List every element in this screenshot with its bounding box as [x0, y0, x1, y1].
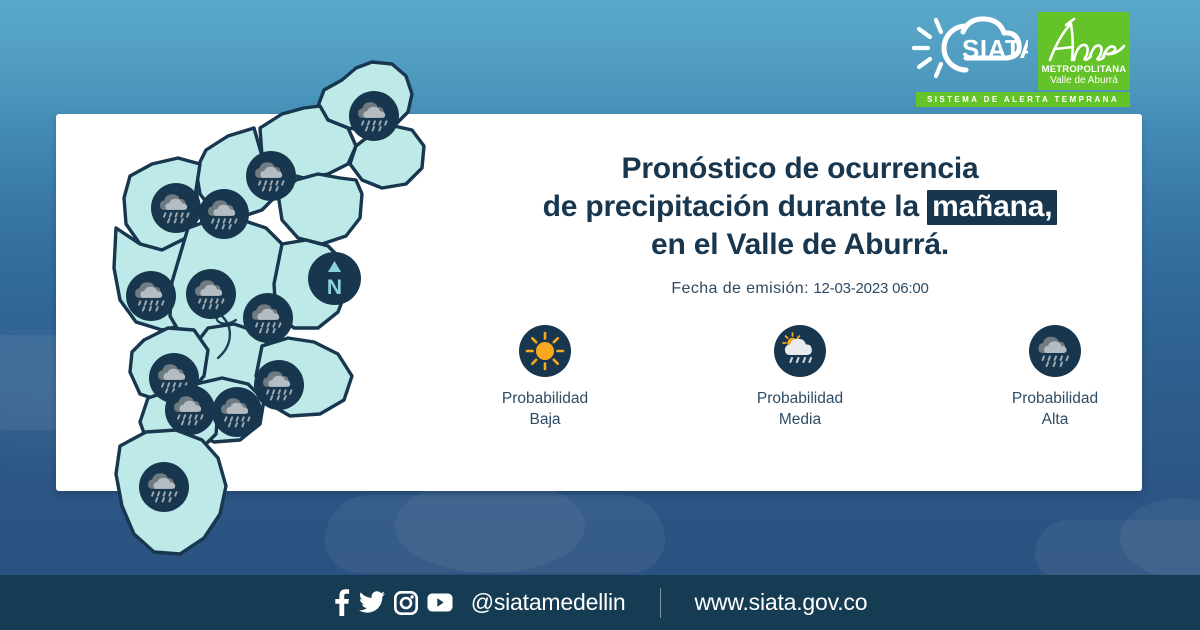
title-line-2: de precipitación durante la mañana,	[470, 188, 1130, 226]
facebook-icon[interactable]	[333, 589, 350, 616]
map-marker-copacabana[interactable]	[199, 189, 249, 239]
map-marker-caldas[interactable]	[139, 462, 189, 512]
sun-icon	[519, 325, 571, 377]
youtube-icon[interactable]	[427, 593, 453, 612]
legend-label-baja: Probabilidad Baja	[502, 389, 588, 430]
legend-item-alta: Probabilidad Alta	[980, 325, 1130, 430]
siata-tagline: SISTEMA DE ALERTA TEMPRANA	[927, 95, 1119, 104]
legend-label-media-line2: Media	[757, 410, 843, 430]
emission-date: Fecha de emisión: 12-03-2023 06:00	[470, 280, 1130, 298]
siata-wordmark: SIATA	[962, 34, 1028, 64]
legend-label-alta: Probabilidad Alta	[1012, 389, 1098, 430]
social-handle[interactable]: @siatamedellin	[471, 589, 626, 616]
compass-rose: N	[308, 252, 361, 305]
map-marker-don-matias[interactable]	[151, 183, 201, 233]
siata-tagline-bar: SISTEMA DE ALERTA TEMPRANA	[916, 92, 1130, 107]
map-marker-bello[interactable]	[126, 271, 176, 321]
title-line-2-text: de precipitación durante la	[543, 190, 928, 223]
area-metropolitana-logo: METROPOLITANA Valle de Aburrá	[1038, 12, 1130, 90]
legend-label-baja-line2: Baja	[502, 410, 588, 430]
infographic-poster: SIATA METROPOLITANA Valle de Aburrá SIST…	[0, 0, 1200, 630]
title-line-1: Pronóstico de ocurrencia	[470, 150, 1130, 188]
website-link[interactable]: www.siata.gov.co	[695, 589, 868, 616]
area-sub-metropolitana: METROPOLITANA	[1042, 65, 1127, 75]
page-title: Pronóstico de ocurrencia de precipitació…	[470, 150, 1130, 263]
footer-bar: @siatamedellin www.siata.gov.co	[0, 575, 1200, 630]
footer-divider	[660, 588, 661, 618]
map-marker-girardota[interactable]	[246, 151, 296, 201]
instagram-icon[interactable]	[394, 591, 418, 615]
map-marker-barbosa[interactable]	[349, 91, 399, 141]
legend-label-media: Probabilidad Media	[757, 389, 843, 430]
social-icons	[333, 589, 453, 616]
brand-logos: SIATA METROPOLITANA Valle de Aburrá	[906, 12, 1130, 90]
sun-cloud-rain-icon	[774, 325, 826, 377]
legend-item-media: Probabilidad Media	[725, 325, 875, 430]
legend-label-baja-line1: Probabilidad	[502, 389, 588, 409]
forecast-content: Pronóstico de ocurrencia de precipitació…	[470, 150, 1130, 430]
map-marker-medellin-norte[interactable]	[186, 269, 236, 319]
compass-north-label: N	[327, 276, 342, 299]
probability-legend: Probabilidad Baja	[470, 325, 1130, 430]
siata-logo: SIATA	[906, 12, 1028, 84]
area-sub-valle: Valle de Aburrá	[1050, 75, 1118, 87]
legend-label-media-line1: Probabilidad	[757, 389, 843, 409]
map-marker-sabaneta[interactable]	[254, 360, 304, 410]
cloud-rain-icon	[1029, 325, 1081, 377]
title-highlight-manana: mañana,	[927, 190, 1057, 226]
siata-logo-mark: SIATA	[906, 12, 1028, 84]
title-line-3: en el Valle de Aburrá.	[470, 226, 1130, 264]
legend-item-baja: Probabilidad Baja	[470, 325, 620, 430]
twitter-icon[interactable]	[359, 591, 385, 614]
emission-value: 12-03-2023 06:00	[813, 280, 928, 297]
map-marker-itagui[interactable]	[165, 385, 215, 435]
emission-label: Fecha de emisión:	[671, 280, 809, 297]
map-marker-medellin-centro[interactable]	[243, 293, 293, 343]
legend-label-alta-line2: Alta	[1012, 410, 1098, 430]
legend-label-alta-line1: Probabilidad	[1012, 389, 1098, 409]
area-script-mark	[1038, 16, 1130, 66]
